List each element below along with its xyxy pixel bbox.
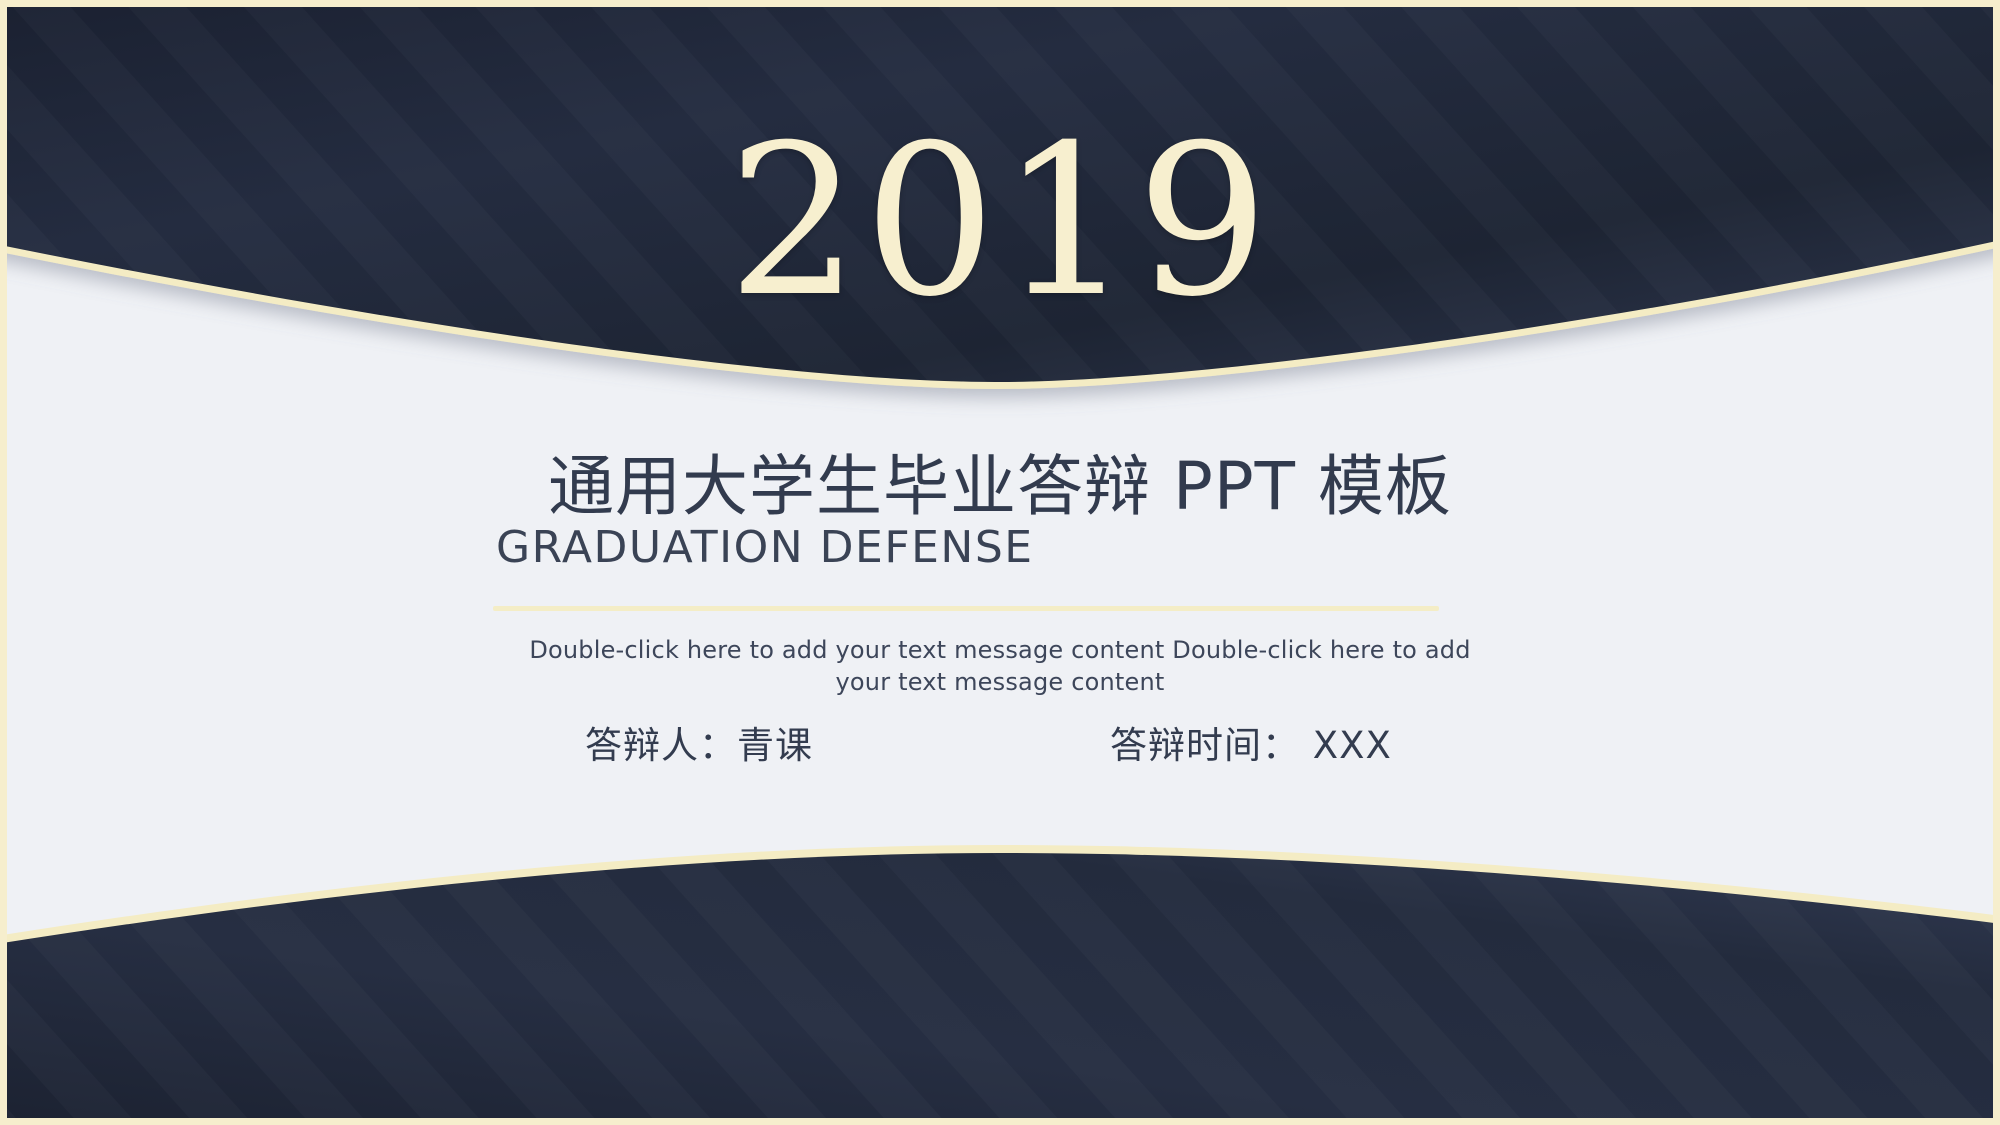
subtitle-wrapper: GRADUATION DEFENSE (450, 524, 1550, 572)
page-subtitle: GRADUATION DEFENSE (496, 522, 1034, 573)
gold-divider-line (493, 606, 1439, 611)
defense-date-label: 答辩时间： XXX (1110, 723, 1392, 769)
page-title: 通用大学生毕业答辩 PPT 模板 (0, 452, 2000, 522)
subtitle-row: GRADUATION DEFENSE (0, 524, 2000, 572)
slide-content: 2019 通用大学生毕业答辩 PPT 模板 GRADUATION DEFENSE… (0, 0, 2000, 1125)
year-heading: 2019 (0, 118, 2000, 326)
presenter-label: 答辩人：青课 (585, 723, 813, 769)
meta-row: 答辩人：青课 答辩时间： XXX (500, 723, 1500, 783)
title-block: 通用大学生毕业答辩 PPT 模板 GRADUATION DEFENSE (0, 452, 2000, 572)
slide-canvas: 2019 通用大学生毕业答辩 PPT 模板 GRADUATION DEFENSE… (0, 0, 2000, 1125)
body-placeholder-text: Double-click here to add your text messa… (500, 635, 1500, 698)
